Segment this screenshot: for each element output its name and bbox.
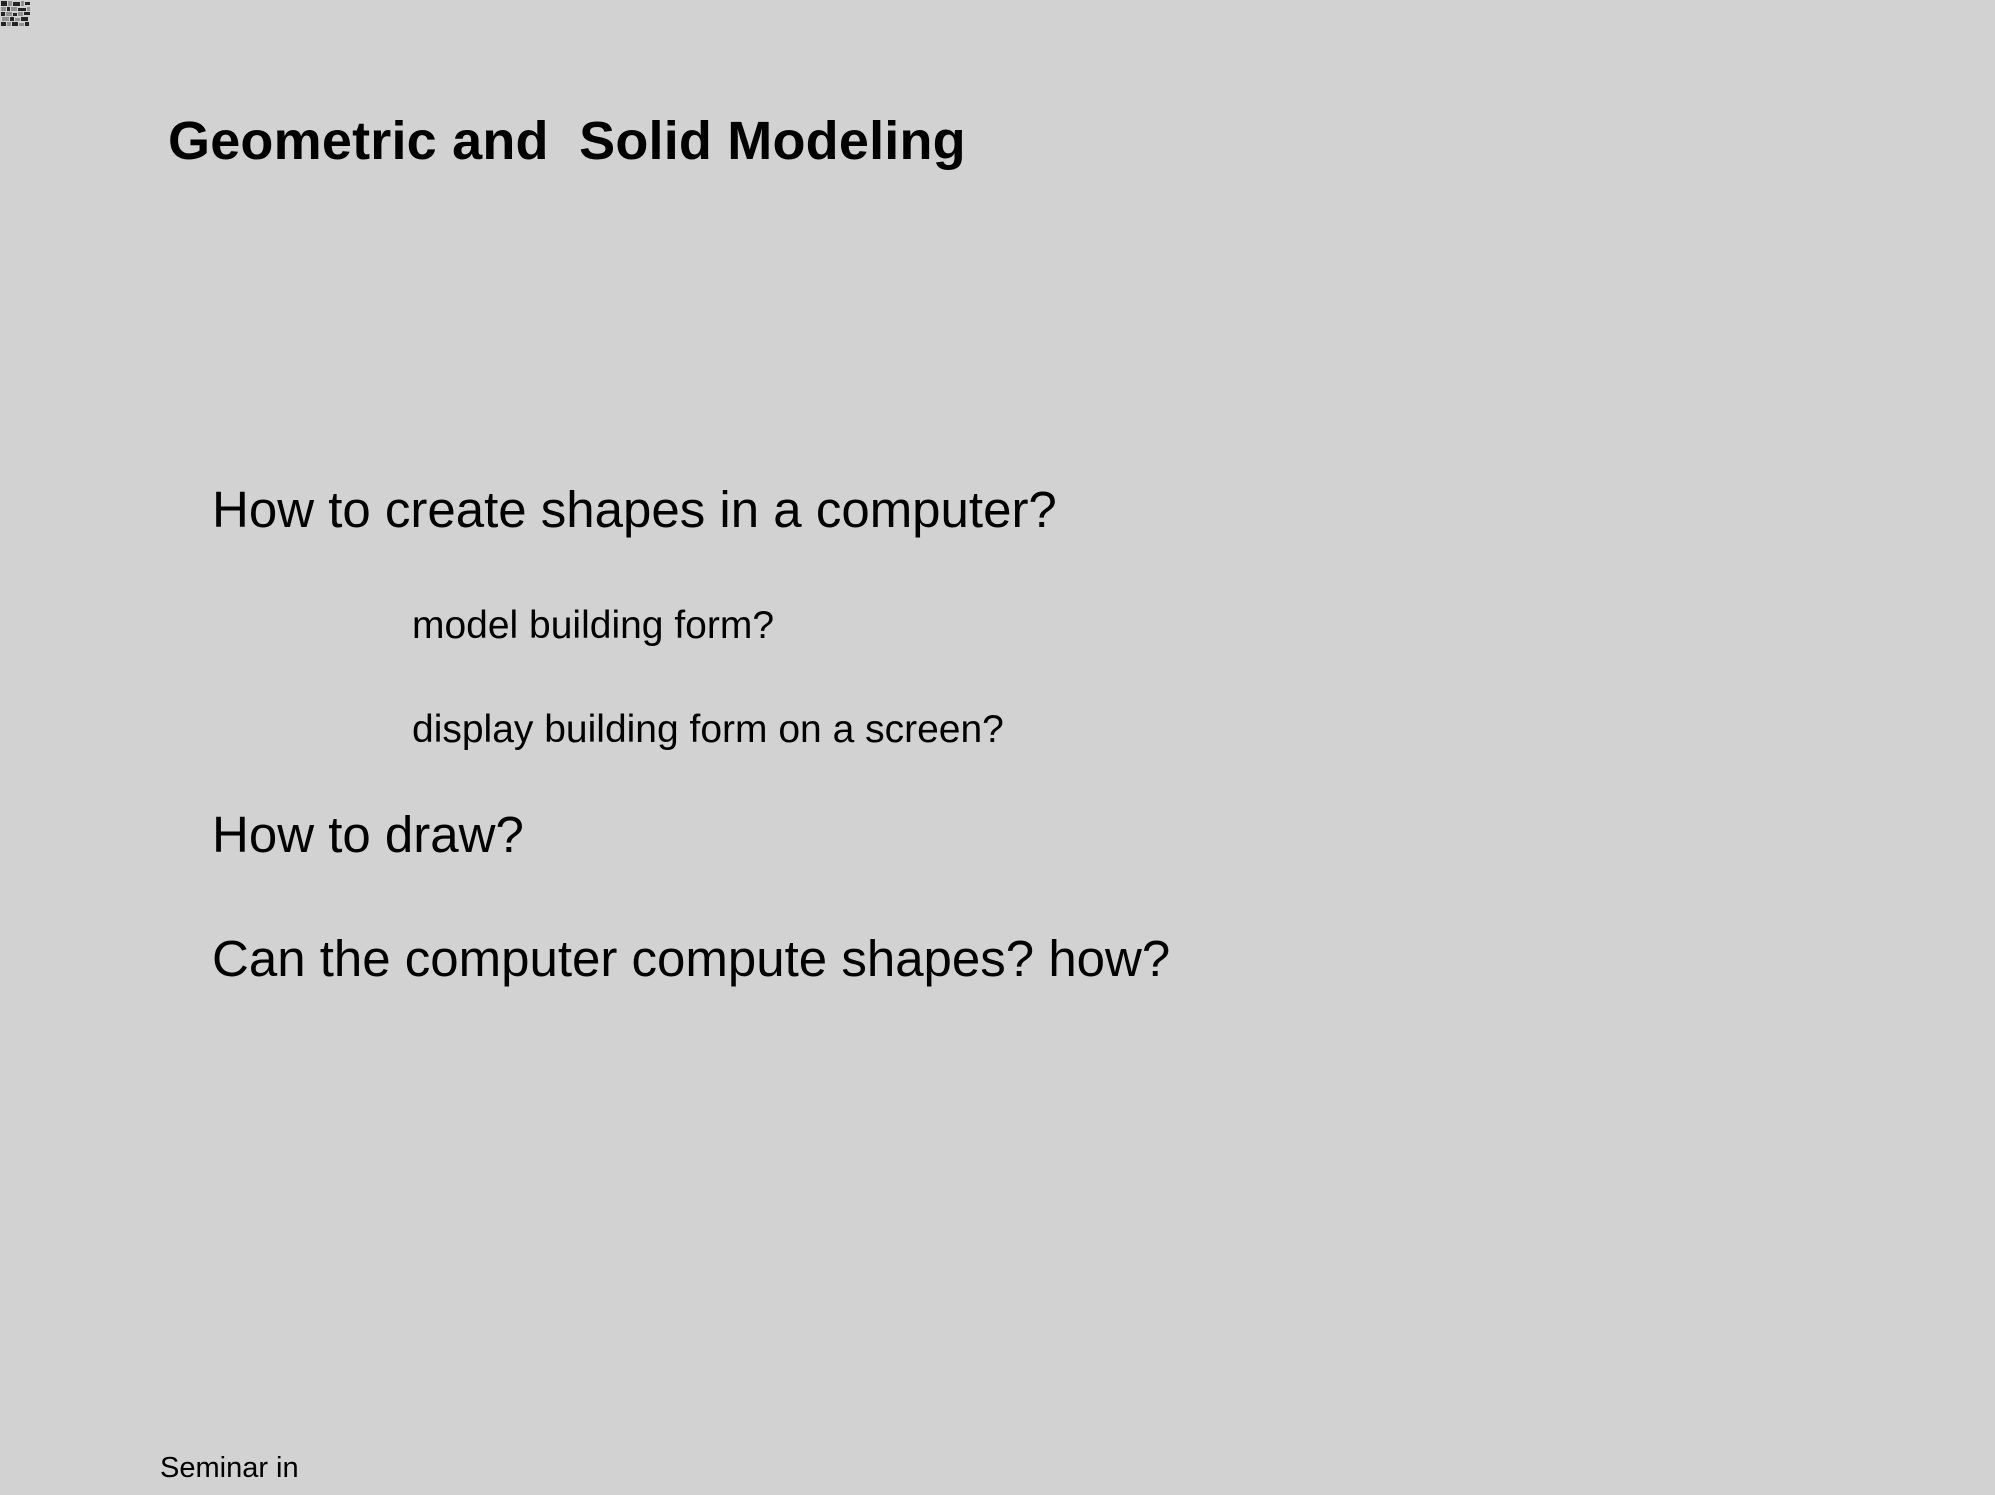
body-line-can-computer-compute-shapes: Can the computer compute shapes? how?	[212, 930, 1170, 987]
body-line-how-to-create: How to create shapes in a computer?	[212, 481, 1057, 538]
body-line-how-to-draw: How to draw?	[212, 806, 524, 863]
body-line-model-building-form: model building form?	[412, 604, 774, 648]
slide-body: How to create shapes in a computer? mode…	[0, 0, 1995, 1495]
presentation-slide: Geometric and Solid Modeling How to crea…	[0, 0, 1995, 1495]
body-line-display-building-form: display building form on a screen?	[412, 708, 1004, 752]
footer-line-1: Seminar in	[160, 1449, 399, 1487]
slide-footer: Seminar in Design Computing	[160, 1372, 399, 1495]
